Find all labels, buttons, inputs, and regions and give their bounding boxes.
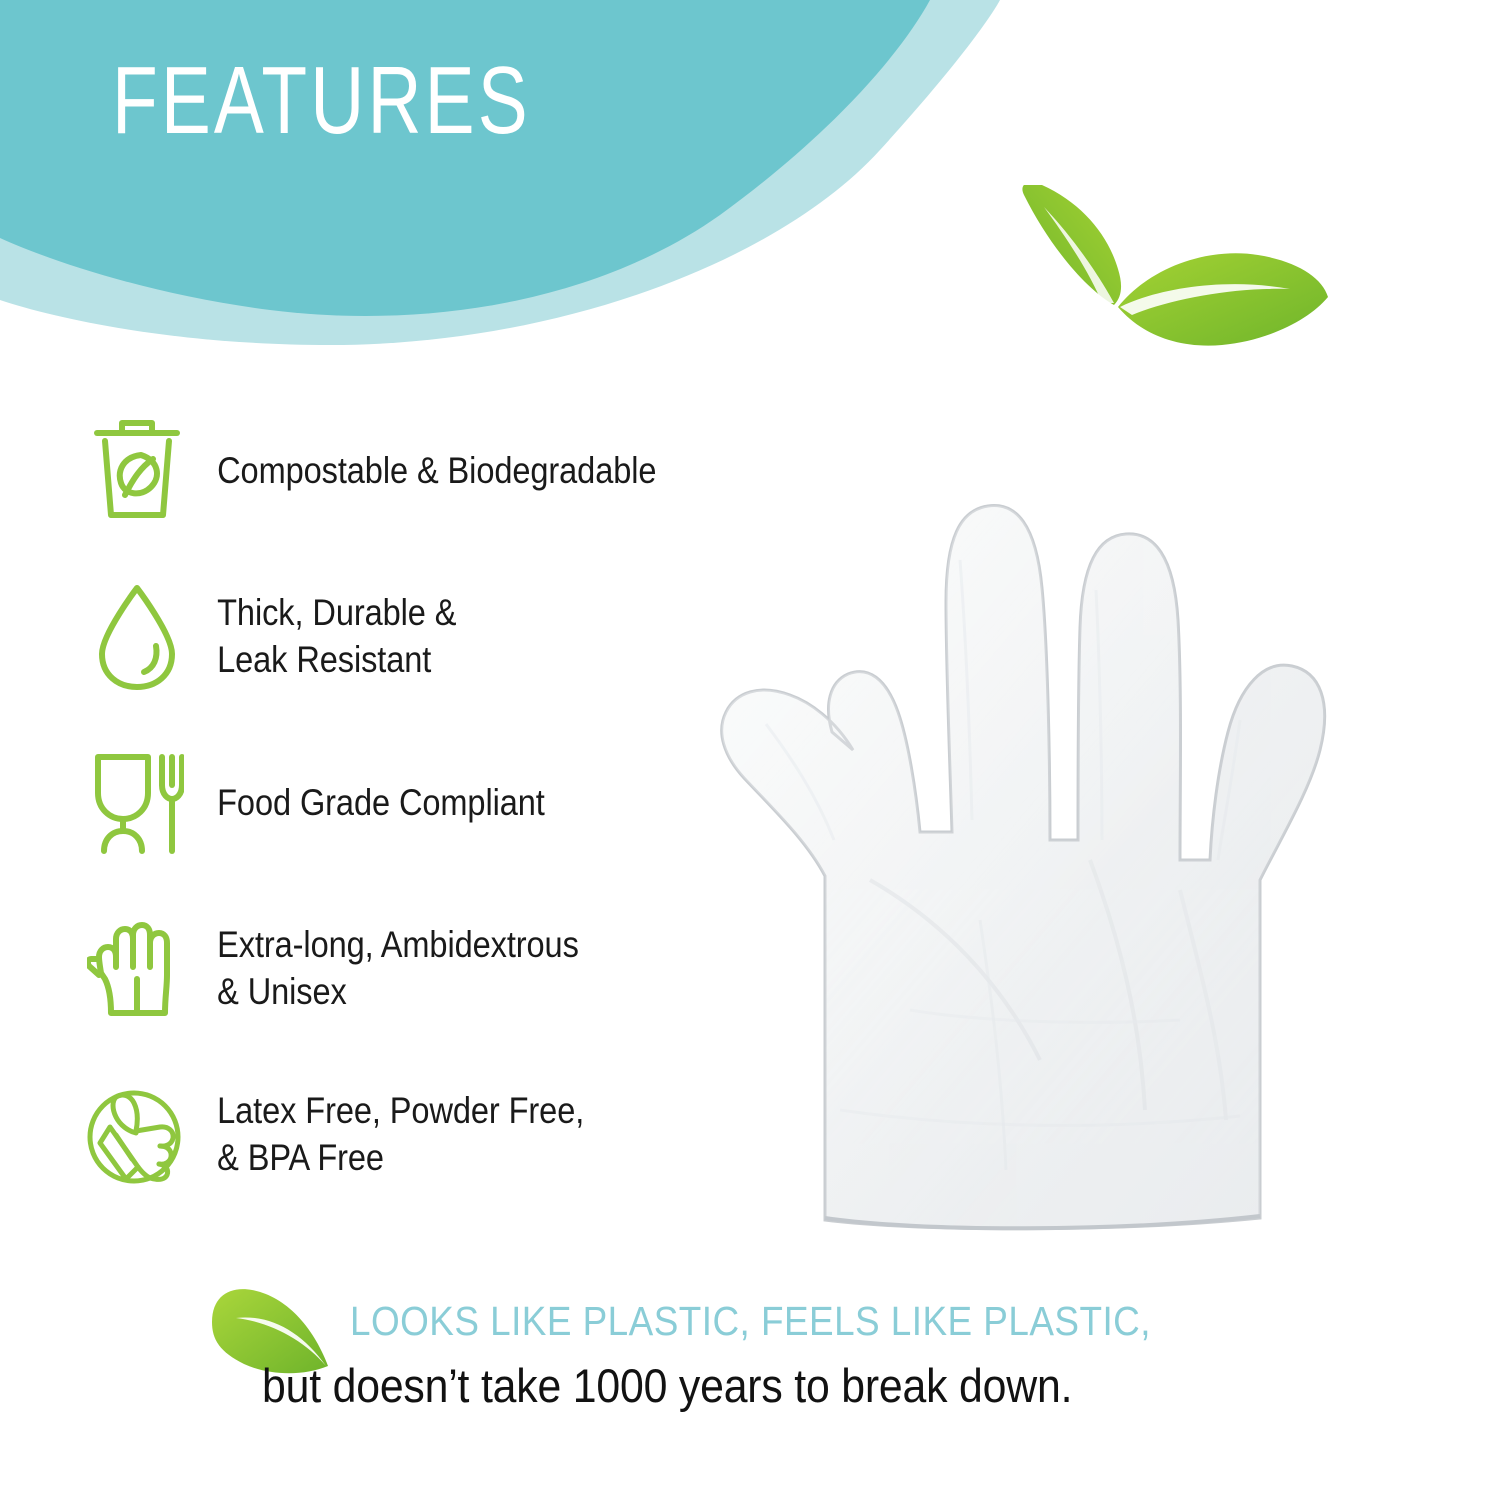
water-droplet-icon (78, 582, 196, 692)
features-list: Compostable & Biodegradable Thick, Durab… (78, 412, 738, 1242)
feature-item: Latex Free, Powder Free, & BPA Free (78, 1076, 738, 1194)
infographic-canvas: FEATURES (0, 0, 1500, 1500)
glove-icon (78, 914, 196, 1024)
feature-label: Latex Free, Powder Free, & BPA Free (196, 1088, 673, 1182)
feature-label: Extra-long, Ambidextrous & Unisex (196, 922, 673, 1016)
tagline-line-2: but doesn’t take 1000 years to break dow… (262, 1358, 1072, 1413)
feature-item: Extra-long, Ambidextrous & Unisex (78, 910, 738, 1028)
disposable-plastic-glove-photo (620, 320, 1420, 1260)
page-title: FEATURES (112, 48, 531, 154)
glass-and-fork-food-safe-icon (78, 748, 196, 858)
feature-label: Compostable & Biodegradable (196, 448, 673, 495)
glove-texture (620, 320, 1420, 1260)
compost-bin-leaf-icon (78, 416, 196, 526)
feature-item: Compostable & Biodegradable (78, 412, 738, 530)
feature-label: Food Grade Compliant (196, 780, 673, 827)
tagline-line-1: LOOKS LIKE PLASTIC, FEELS LIKE PLASTIC, (350, 1298, 1151, 1345)
feature-label: Thick, Durable & Leak Resistant (196, 590, 673, 684)
thumbs-up-circle-icon (78, 1080, 196, 1190)
feature-item: Food Grade Compliant (78, 744, 738, 862)
feature-item: Thick, Durable & Leak Resistant (78, 578, 738, 696)
